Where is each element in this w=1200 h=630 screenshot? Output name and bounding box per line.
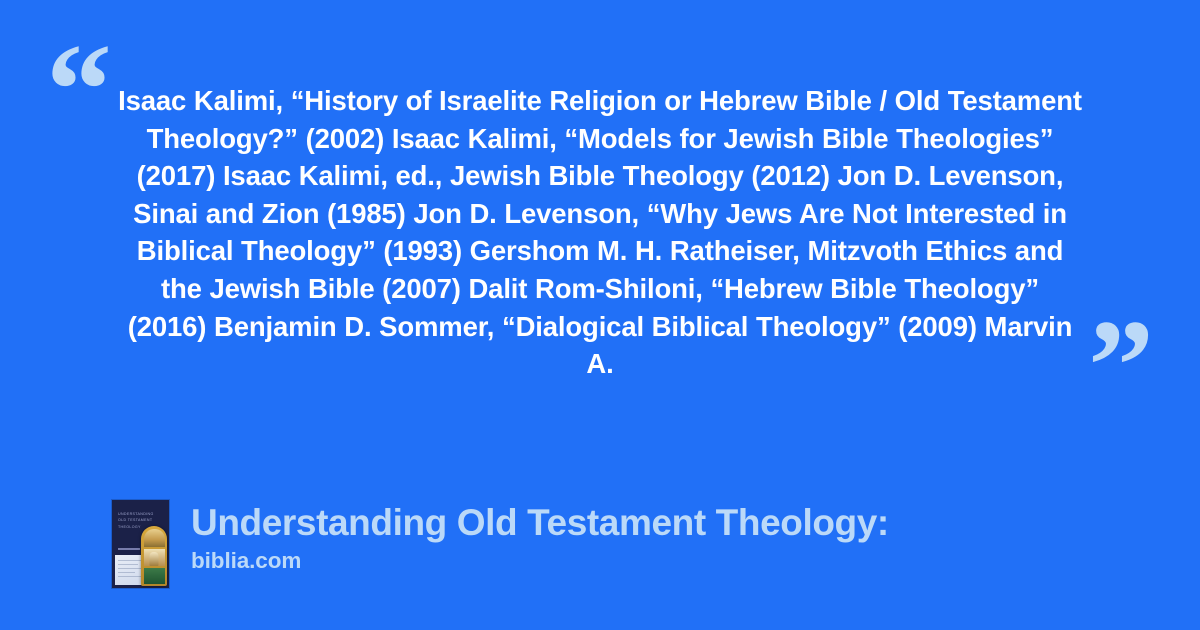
opening-quote-icon: “ [46, 24, 112, 156]
stained-glass-window-icon [141, 526, 167, 586]
window-figure [150, 552, 159, 566]
footer: UNDERSTANDING OLD TESTAMENT THEOLOGY Und… [112, 500, 889, 588]
site-name[interactable]: biblia.com [191, 547, 889, 575]
window-pane-top [144, 529, 165, 547]
cover-paper-rule [118, 564, 138, 565]
cover-paper-rule [118, 560, 142, 561]
cover-paper-rule [118, 572, 135, 573]
book-cover-author-rule [118, 548, 140, 550]
book-title: Understanding Old Testament Theology: [191, 501, 889, 545]
quote-section: “ Isaac Kalimi, “History of Israelite Re… [0, 0, 1200, 470]
footer-text-block: Understanding Old Testament Theology: bi… [191, 500, 889, 575]
closing-quote-icon: ” [1088, 300, 1154, 432]
cover-paper-rule [118, 576, 141, 577]
window-pane-bottom [144, 568, 165, 584]
book-cover-thumbnail: UNDERSTANDING OLD TESTAMENT THEOLOGY [112, 500, 169, 588]
quote-card: “ Isaac Kalimi, “History of Israelite Re… [0, 0, 1200, 630]
quote-text: Isaac Kalimi, “History of Israelite Reli… [118, 82, 1082, 383]
